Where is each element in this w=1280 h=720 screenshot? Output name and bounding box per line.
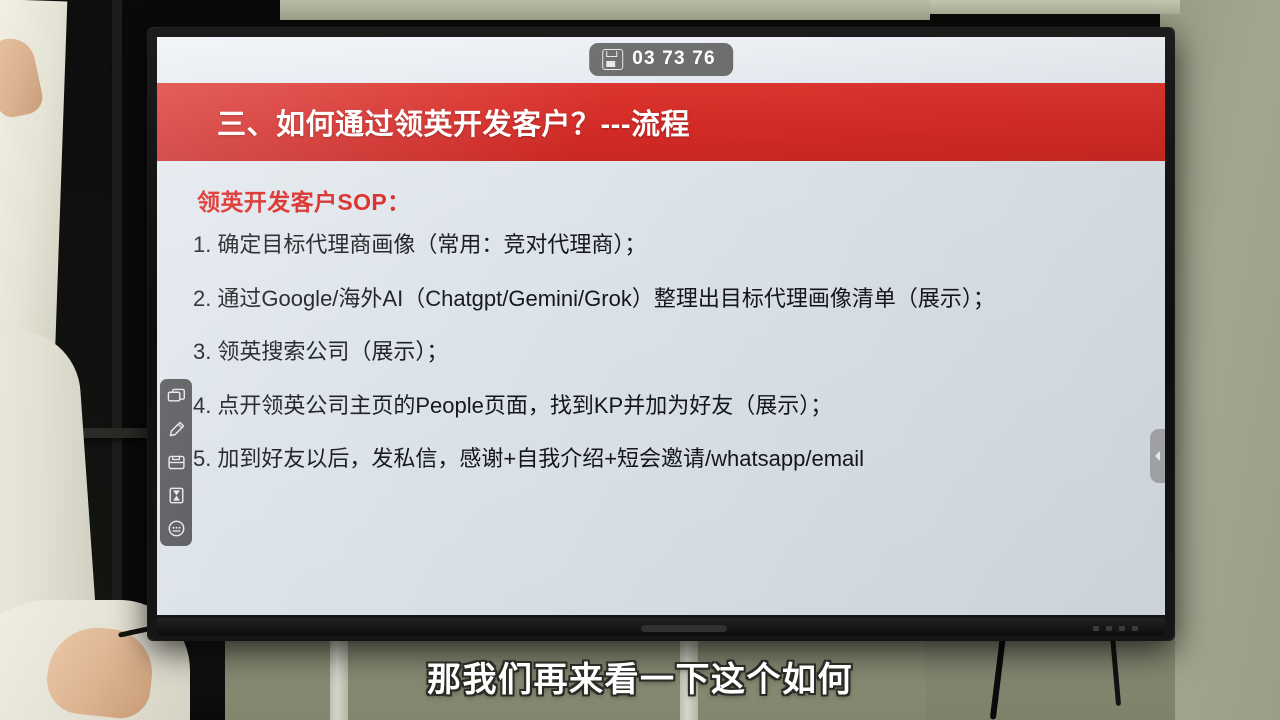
save-icon	[602, 49, 623, 70]
list-item-text: 确定目标代理商画像（常用：竞对代理商）；	[217, 231, 646, 259]
slide-body: 领英开发客户SOP： 1. 确定目标代理商画像（常用：竞对代理商）； 2. 通过…	[157, 161, 1165, 615]
classroom-display: 03 73 76 三、如何通过领英开发客户？---流程 领英开发客户SOP： 1…	[148, 28, 1174, 640]
badge-value: 03 73 76	[632, 48, 716, 70]
list-item-text: 通过Google/海外AI（Chatgpt/Gemini/Grok）整理出目标代…	[217, 285, 994, 313]
windows-copy-icon[interactable]	[166, 386, 187, 407]
pencil-icon[interactable]	[166, 419, 187, 440]
list-item-number: 4.	[193, 392, 211, 420]
tv-indicator-leds	[1093, 626, 1138, 631]
slide-banner: 三、如何通过领英开发客户？---流程	[157, 83, 1165, 161]
wall-top-strip	[230, 0, 930, 20]
list-item-text: 点开领英公司主页的People页面，找到KP并加为好友（展示）；	[217, 392, 832, 420]
list-item-text: 领英搜索公司（展示）；	[217, 338, 448, 366]
list-item-number: 5.	[193, 445, 211, 473]
save-card-icon[interactable]	[166, 452, 187, 473]
sidebar-expand-handle[interactable]	[1150, 429, 1165, 483]
list-item: 3. 领英搜索公司（展示）；	[193, 338, 1139, 366]
list-item: 5. 加到好友以后，发私信，感谢+自我介绍+短会邀请/whatsapp/emai…	[193, 445, 1139, 473]
sop-list: 1. 确定目标代理商画像（常用：竞对代理商）； 2. 通过Google/海外AI…	[177, 231, 1139, 473]
list-item-number: 1.	[193, 231, 211, 259]
list-item: 4. 点开领英公司主页的People页面，找到KP并加为好友（展示）；	[193, 392, 1139, 420]
floating-toolbar[interactable]	[160, 379, 192, 546]
page-title: 三、如何通过领英开发客户？---流程	[217, 101, 690, 143]
list-item-number: 3.	[193, 338, 211, 366]
hourglass-icon[interactable]	[166, 485, 187, 506]
screenshot-stage: 03 73 76 三、如何通过领英开发客户？---流程 领英开发客户SOP： 1…	[0, 0, 1280, 720]
door-frame	[112, 0, 122, 640]
list-item: 1. 确定目标代理商画像（常用：竞对代理商）；	[193, 231, 1139, 259]
slide-screen: 03 73 76 三、如何通过领英开发客户？---流程 领英开发客户SOP： 1…	[157, 37, 1165, 615]
list-item-number: 2.	[193, 285, 211, 313]
slide-top-strip: 03 73 76	[157, 37, 1165, 83]
wall-right	[1160, 0, 1280, 720]
tv-ir-sensor	[641, 625, 727, 632]
sop-heading: 领英开发客户SOP：	[197, 183, 1139, 217]
status-badge[interactable]: 03 73 76	[589, 43, 733, 76]
list-item: 2. 通过Google/海外AI（Chatgpt/Gemini/Grok）整理出…	[193, 285, 1139, 313]
smiley-more-icon[interactable]	[166, 518, 187, 539]
wall-top-strip-secondary	[930, 0, 1180, 14]
subtitle-caption: 那我们再来看一下这个如何	[0, 652, 1280, 701]
list-item-text: 加到好友以后，发私信，感谢+自我介绍+短会邀请/whatsapp/email	[217, 445, 864, 473]
